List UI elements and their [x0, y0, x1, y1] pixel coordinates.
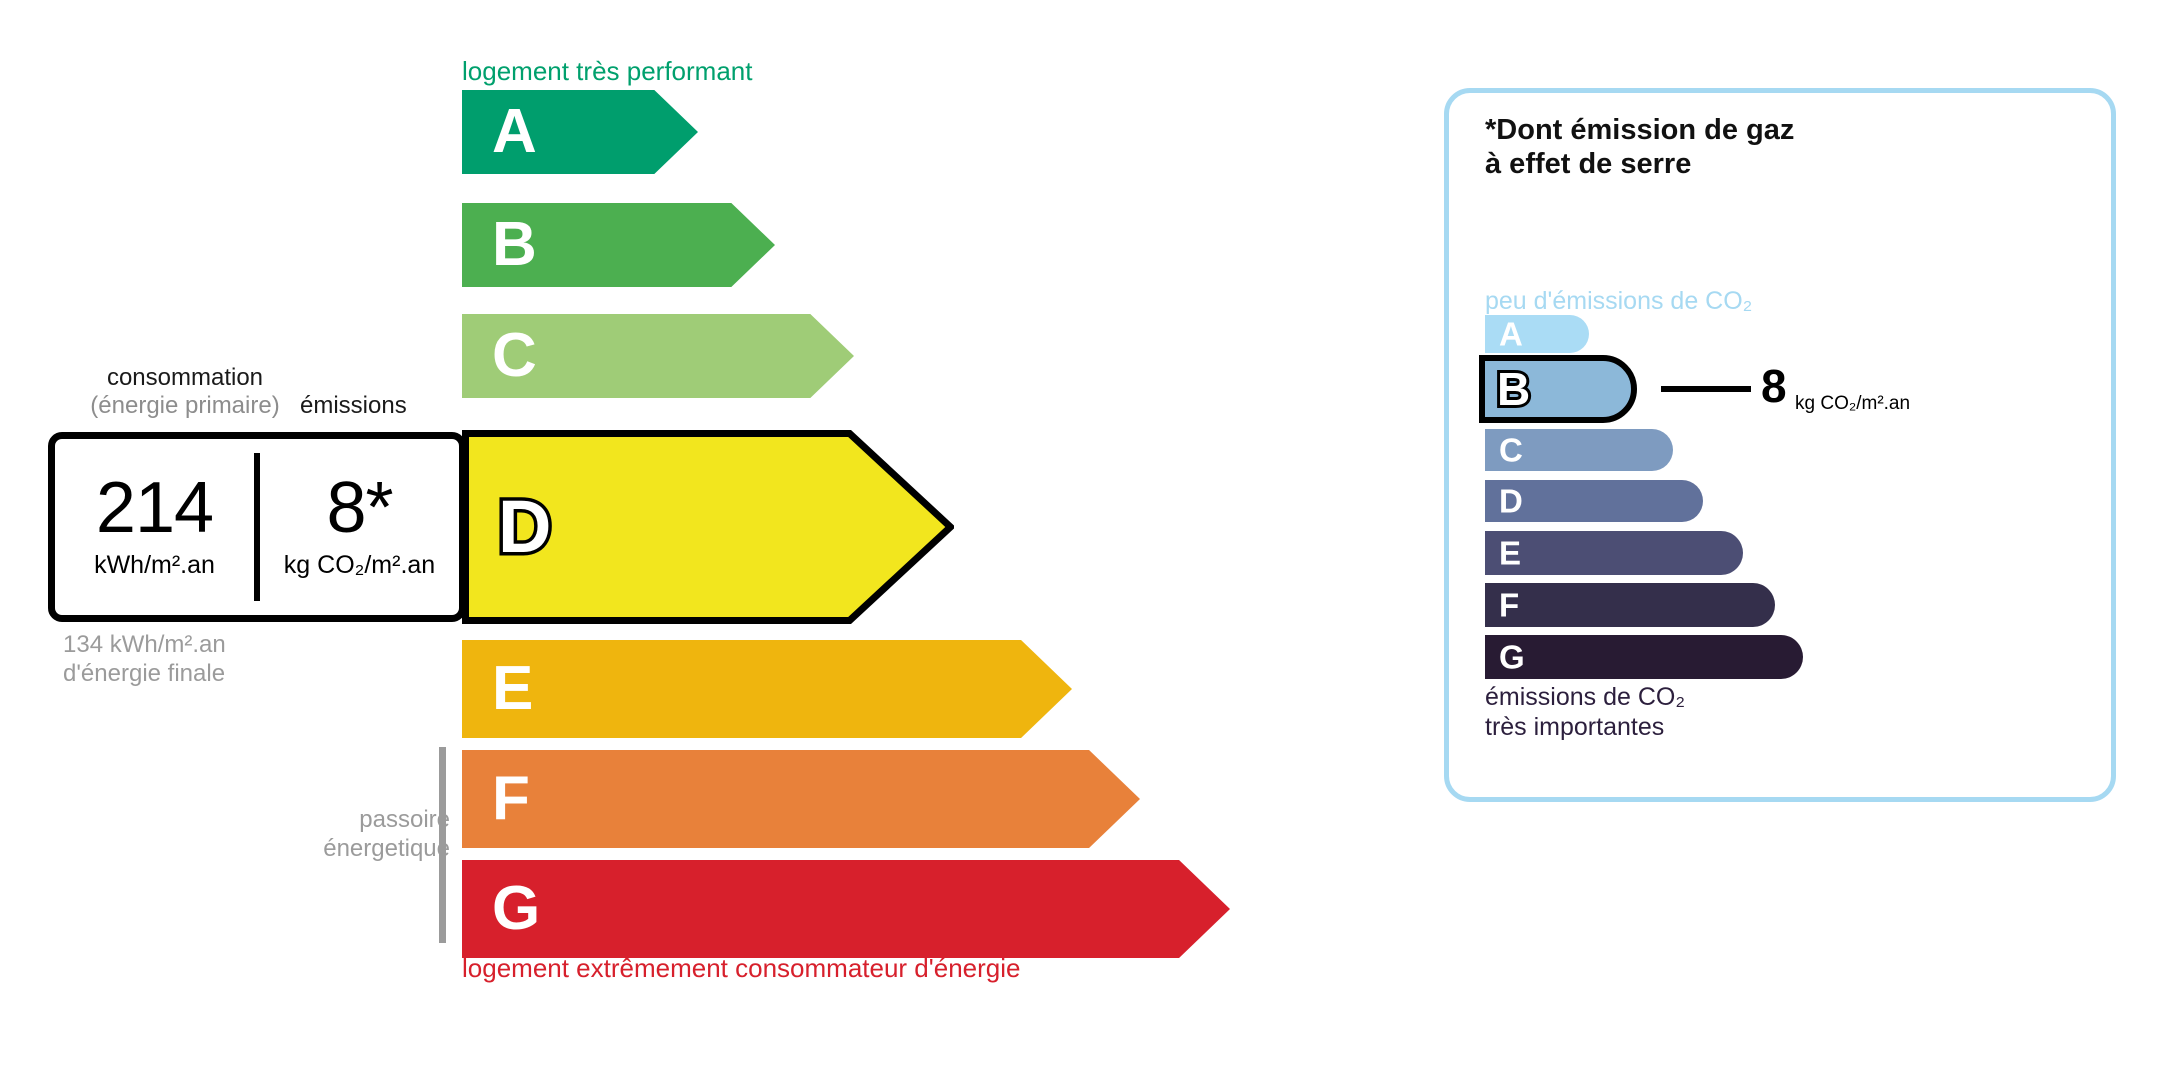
- primary-energy-unit: kWh/m².an: [94, 551, 215, 580]
- co2-bottom-caption: émissions de CO₂ très importantes: [1485, 683, 1685, 742]
- header-consumption-sub: (énergie primaire): [60, 392, 310, 420]
- co2-panel: *Dont émission de gaz à effet de serre p…: [1444, 88, 2116, 802]
- emission-value: 8*: [326, 474, 392, 542]
- passoire-line1: passoire: [250, 805, 450, 834]
- value-box: 214 kWh/m².an 8* kg CO₂/m².an: [48, 432, 466, 622]
- passoire-bracket: [439, 747, 446, 943]
- energy-arrow-b: B: [462, 203, 775, 287]
- energy-arrow-f: F: [462, 750, 1140, 848]
- co2-bottom-line1: émissions de CO₂: [1485, 683, 1685, 713]
- header-consumption-main: consommation: [107, 364, 263, 391]
- energy-class-letter-c: C: [492, 325, 537, 387]
- co2-class-letter-a: A: [1499, 318, 1523, 351]
- co2-bar-b: B: [1479, 355, 1637, 423]
- primary-energy-cell: 214 kWh/m².an: [55, 439, 254, 615]
- co2-class-letter-b: B: [1497, 366, 1530, 412]
- passoire-energetique-label: passoire énergetique: [250, 805, 450, 864]
- dpe-energy-panel: logement très performant consommation (é…: [0, 0, 1380, 1079]
- co2-bar-g: G: [1485, 635, 1803, 679]
- co2-bottom-line2: très importantes: [1485, 713, 1685, 743]
- energy-class-letter-d: D: [498, 490, 551, 564]
- energy-class-row-b: B: [462, 203, 775, 287]
- co2-bar-e: E: [1485, 531, 1743, 575]
- energy-top-caption: logement très performant: [462, 56, 752, 87]
- co2-class-row-d: D: [1485, 480, 1703, 522]
- energy-class-row-c: C: [462, 314, 854, 398]
- co2-class-letter-c: C: [1499, 434, 1523, 467]
- co2-bar-c: C: [1485, 429, 1673, 471]
- co2-class-letter-d: D: [1499, 485, 1523, 518]
- co2-value: 8: [1761, 363, 1787, 409]
- co2-value-unit: kg CO₂/m².an: [1795, 393, 1910, 415]
- co2-class-row-e: E: [1485, 531, 1743, 575]
- energy-arrow-a: A: [462, 90, 698, 174]
- final-energy-note: 134 kWh/m².an d'énergie finale: [63, 630, 226, 689]
- energy-arrow-d: D: [462, 430, 954, 624]
- header-consumption: consommation (énergie primaire): [60, 364, 310, 420]
- co2-class-letter-e: E: [1499, 537, 1521, 570]
- primary-energy-value: 214: [96, 474, 213, 542]
- energy-class-letter-f: F: [492, 768, 530, 830]
- emission-unit: kg CO₂/m².an: [284, 551, 435, 580]
- energy-arrow-g: G: [462, 860, 1230, 958]
- co2-class-row-b: B: [1485, 361, 1637, 417]
- co2-class-letter-g: G: [1499, 641, 1525, 674]
- co2-bar-f: F: [1485, 583, 1775, 627]
- co2-title-line1: *Dont émission de gaz: [1485, 113, 1794, 147]
- passoire-line2: énergetique: [250, 834, 450, 863]
- co2-leader-line: [1661, 386, 1751, 392]
- energy-class-letter-a: A: [492, 101, 537, 163]
- header-emissions: émissions: [300, 392, 470, 420]
- co2-panel-title: *Dont émission de gaz à effet de serre: [1485, 113, 1794, 181]
- energy-class-row-a: A: [462, 90, 698, 174]
- co2-bar-d: D: [1485, 480, 1703, 522]
- energy-class-letter-b: B: [492, 214, 537, 276]
- co2-class-row-f: F: [1485, 583, 1775, 627]
- co2-title-line2: à effet de serre: [1485, 147, 1794, 181]
- co2-class-row-c: C: [1485, 429, 1673, 471]
- co2-class-letter-f: F: [1499, 589, 1519, 622]
- energy-class-row-d: D: [462, 430, 954, 624]
- emission-cell: 8* kg CO₂/m².an: [260, 439, 459, 615]
- final-energy-label: d'énergie finale: [63, 659, 226, 688]
- co2-top-caption: peu d'émissions de CO₂: [1485, 287, 1752, 316]
- final-energy-value: 134 kWh/m².an: [63, 630, 226, 659]
- energy-class-row-f: F: [462, 750, 1140, 848]
- co2-bar-a: A: [1485, 315, 1589, 353]
- energy-class-letter-e: E: [492, 658, 533, 720]
- energy-arrow-c: C: [462, 314, 854, 398]
- co2-class-row-g: G: [1485, 635, 1803, 679]
- energy-bottom-caption: logement extrêmement consommateur d'éner…: [462, 953, 1020, 984]
- energy-class-row-e: E: [462, 640, 1072, 738]
- co2-class-row-a: A: [1485, 315, 1589, 353]
- energy-class-row-g: G: [462, 860, 1230, 958]
- energy-arrow-e: E: [462, 640, 1072, 738]
- energy-class-letter-g: G: [492, 878, 540, 940]
